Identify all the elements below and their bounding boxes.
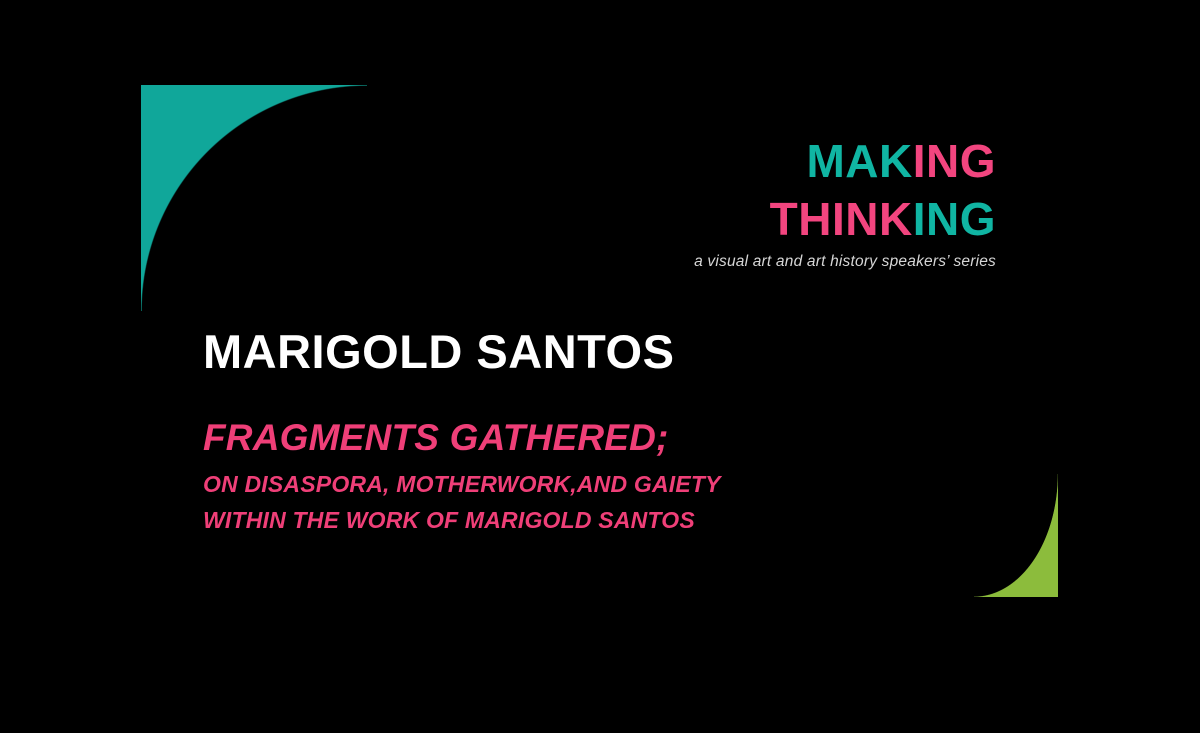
talk-subtitle-line-2: WITHIN THE WORK OF MARIGOLD SANTOS — [203, 503, 721, 539]
logo-making-segment-mak: MAK — [806, 135, 912, 187]
teal-corner-decoration — [141, 85, 367, 311]
green-corner-decoration — [974, 474, 1058, 597]
speaker-name: MARIGOLD SANTOS — [203, 328, 674, 375]
talk-title: FRAGMENTS GATHERED; — [203, 417, 721, 458]
series-tagline: a visual art and art history speakers’ s… — [694, 254, 996, 270]
series-logo-line-making: MAKING — [694, 138, 996, 184]
talk-details: FRAGMENTS GATHERED; ON DISASPORA, MOTHER… — [203, 417, 721, 539]
talk-subtitle-line-1: ON DISASPORA, MOTHERWORK,AND GAIETY — [203, 467, 721, 503]
poster-canvas: MAKING THINKING a visual art and art his… — [0, 0, 1200, 733]
series-logo: MAKING THINKING a visual art and art his… — [694, 138, 996, 270]
logo-making-segment-ing: ING — [913, 135, 996, 187]
logo-thinking-segment-ing: ING — [913, 193, 996, 245]
series-logo-line-thinking: THINKING — [694, 196, 996, 242]
event-poster-card: MAKING THINKING a visual art and art his… — [141, 85, 1058, 597]
logo-thinking-segment-think: THINK — [770, 193, 913, 245]
